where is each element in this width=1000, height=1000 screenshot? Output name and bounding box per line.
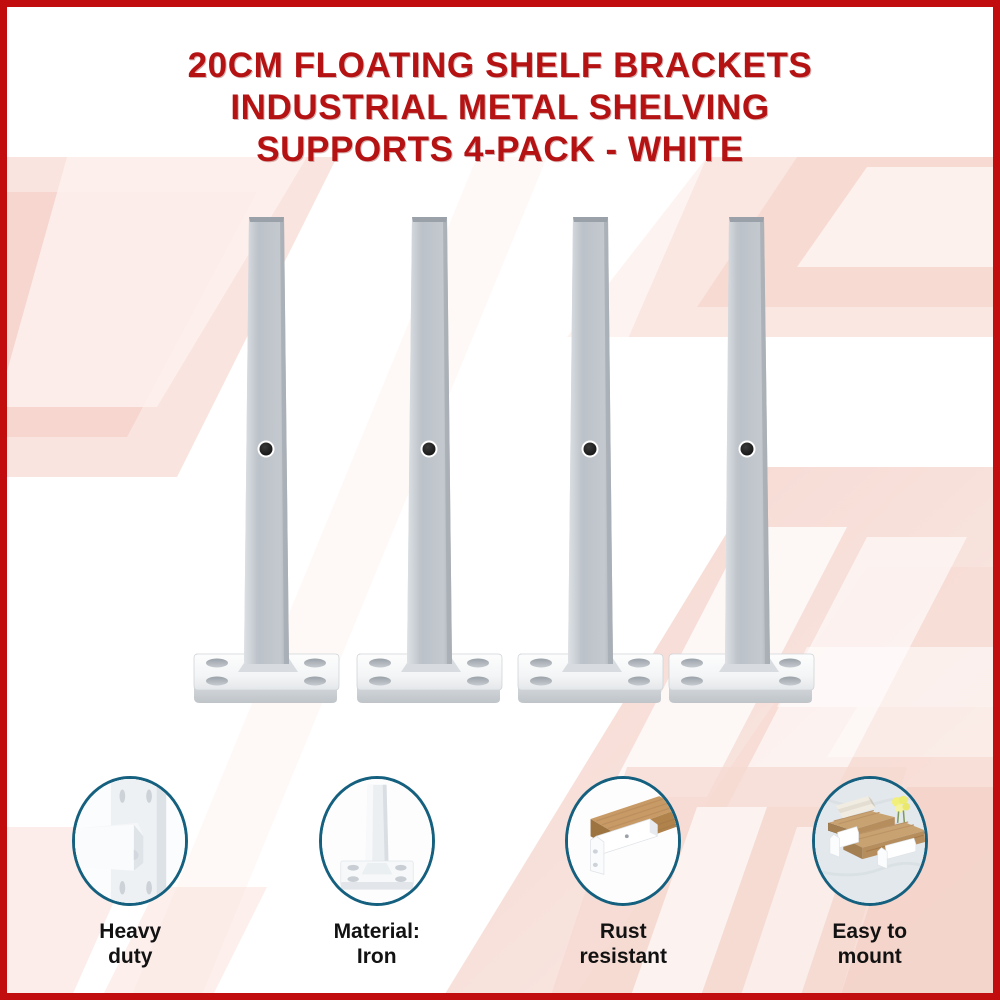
product-title: 20CM FLOATING SHELF BRACKETS INDUSTRIAL …: [7, 45, 993, 171]
feature-label-line-1: Heavy: [99, 919, 161, 944]
mounted-shelf-scene-icon: [812, 776, 928, 906]
bracket-3: [518, 217, 663, 703]
feature-label-line-1: Rust: [579, 919, 667, 944]
product-photo-stage: [7, 202, 993, 722]
bracket-2: [357, 217, 502, 703]
feature-heavy-duty: Heavy duty: [7, 776, 254, 969]
feature-rust-resistant: Rust resistant: [500, 776, 747, 969]
feature-label-material-iron: Material: Iron: [334, 919, 420, 969]
feature-label-heavy-duty: Heavy duty: [99, 919, 161, 969]
title-line-3: SUPPORTS 4-PACK - WHITE: [7, 129, 993, 171]
bracket-4: [669, 217, 814, 703]
feature-material-iron: Material: Iron: [254, 776, 501, 969]
title-line-2: INDUSTRIAL METAL SHELVING: [7, 87, 993, 129]
wall-mounted-bracket-icon: [72, 776, 188, 906]
feature-label-line-2: resistant: [579, 944, 667, 969]
feature-label-line-1: Material:: [334, 919, 420, 944]
feature-label-line-1: Easy to: [832, 919, 907, 944]
feature-label-easy-to-mount: Easy to mount: [832, 919, 907, 969]
feature-label-line-2: mount: [832, 944, 907, 969]
feature-label-rust-resistant: Rust resistant: [579, 919, 667, 969]
feature-label-line-2: duty: [99, 944, 161, 969]
bracket-group-graphic: [7, 202, 1000, 722]
product-image-card: 20CM FLOATING SHELF BRACKETS INDUSTRIAL …: [0, 0, 1000, 1000]
bracket-base-plate-icon: [319, 776, 435, 906]
feature-row: Heavy duty: [7, 776, 993, 969]
wooden-shelf-bracket-icon: [565, 776, 681, 906]
feature-easy-to-mount: Easy to mount: [747, 776, 994, 969]
feature-label-line-2: Iron: [334, 944, 420, 969]
bracket-1: [194, 217, 339, 703]
title-line-1: 20CM FLOATING SHELF BRACKETS: [7, 45, 993, 87]
